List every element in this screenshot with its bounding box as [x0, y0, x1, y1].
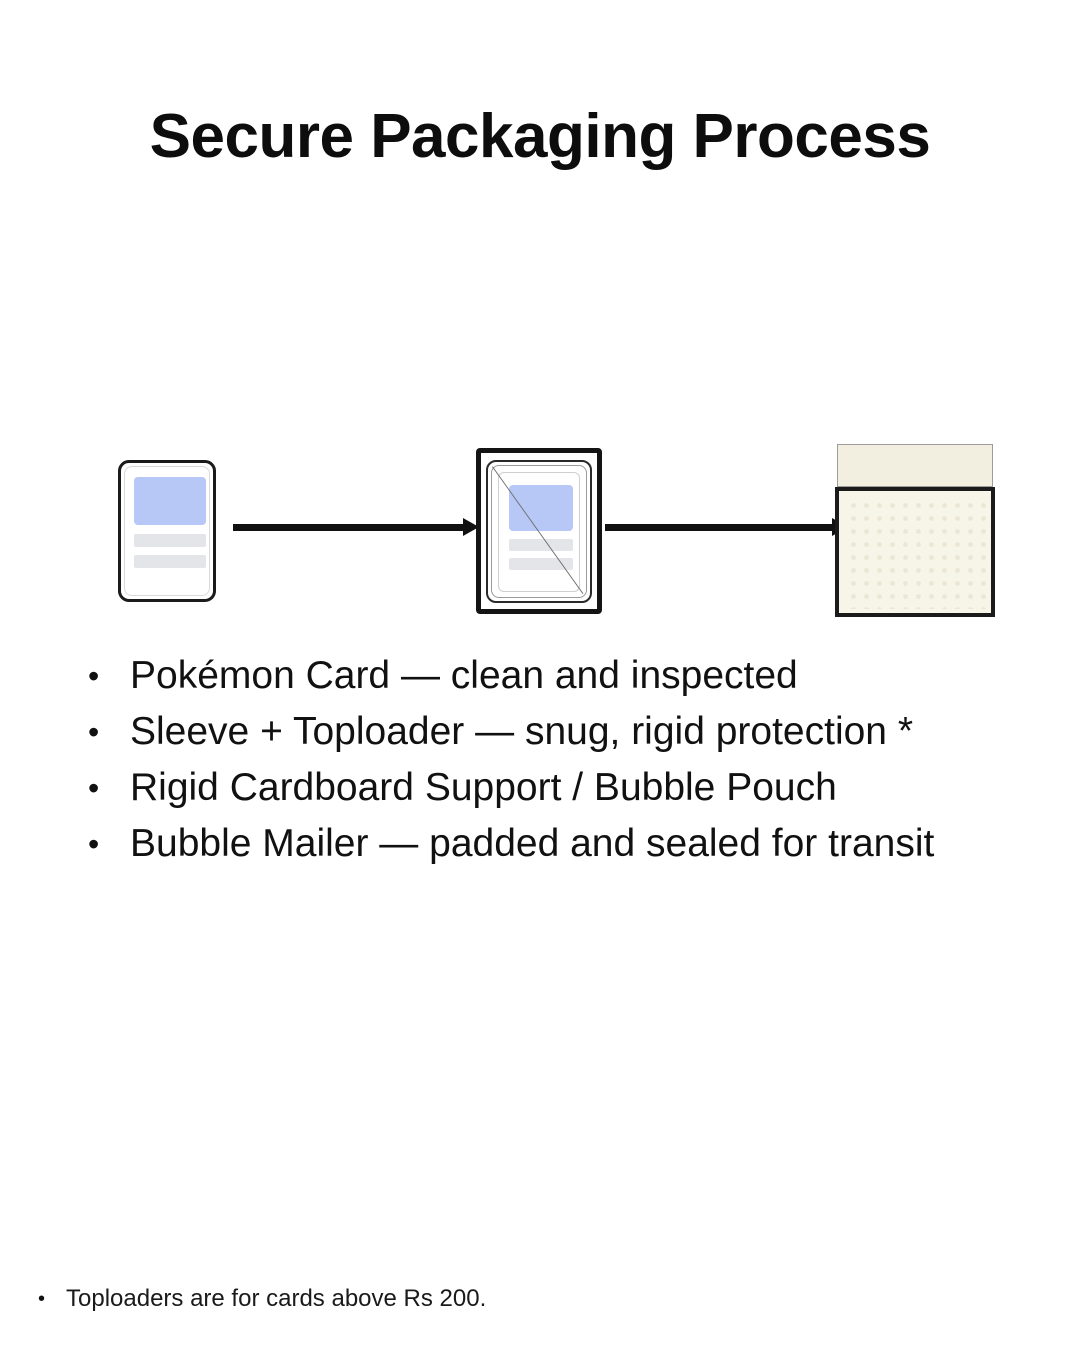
arrow-toploader-to-mailer-icon — [605, 524, 848, 531]
page-title: Secure Packaging Process — [0, 103, 1080, 171]
bullet-marker-icon: • — [88, 760, 130, 816]
bullet-marker-icon: • — [88, 704, 130, 760]
list-item-label: Bubble Mailer — padded and sealed for tr… — [130, 816, 1048, 872]
stage-toploader-illustration — [476, 448, 602, 614]
list-item-label: Pokémon Card — clean and inspected — [130, 648, 1048, 704]
list-item-label: Sleeve + Toploader — snug, rigid protect… — [130, 704, 1048, 760]
card-text-line-2 — [134, 555, 206, 568]
arrow-shaft — [605, 524, 832, 531]
card-text-line-2 — [509, 558, 573, 570]
card-text-line-1 — [509, 539, 573, 551]
packaging-steps-list: • Pokémon Card — clean and inspected • S… — [88, 648, 1048, 872]
list-item: • Sleeve + Toploader — snug, rigid prote… — [88, 704, 1048, 760]
bullet-marker-icon: • — [88, 648, 130, 704]
packaging-flow-diagram — [0, 420, 1080, 635]
card-artwork-panel — [509, 485, 573, 531]
stage-bubble-mailer-illustration — [835, 444, 995, 620]
list-item: • Pokémon Card — clean and inspected — [88, 648, 1048, 704]
mailer-body — [835, 487, 995, 617]
arrow-shaft — [233, 524, 463, 531]
arrow-card-to-toploader-icon — [233, 524, 479, 531]
slide-canvas: Secure Packaging Process — [0, 0, 1080, 1350]
bullet-marker-icon: • — [88, 816, 130, 872]
sleeve-outline — [486, 460, 592, 603]
list-item: • Bubble Mailer — padded and sealed for … — [88, 816, 1048, 872]
footnote: • Toploaders are for cards above Rs 200. — [38, 1282, 486, 1316]
bullet-marker-icon: • — [38, 1282, 66, 1316]
mailer-flap — [837, 444, 993, 487]
footnote-text: Toploaders are for cards above Rs 200. — [66, 1282, 486, 1316]
card-text-line-1 — [134, 534, 206, 547]
card-artwork-panel — [134, 477, 206, 525]
bubble-wrap-pattern — [843, 495, 987, 609]
list-item-label: Rigid Cardboard Support / Bubble Pouch — [130, 760, 1048, 816]
sleeved-card — [498, 472, 580, 592]
stage-card-illustration — [118, 460, 216, 602]
list-item: • Rigid Cardboard Support / Bubble Pouch — [88, 760, 1048, 816]
